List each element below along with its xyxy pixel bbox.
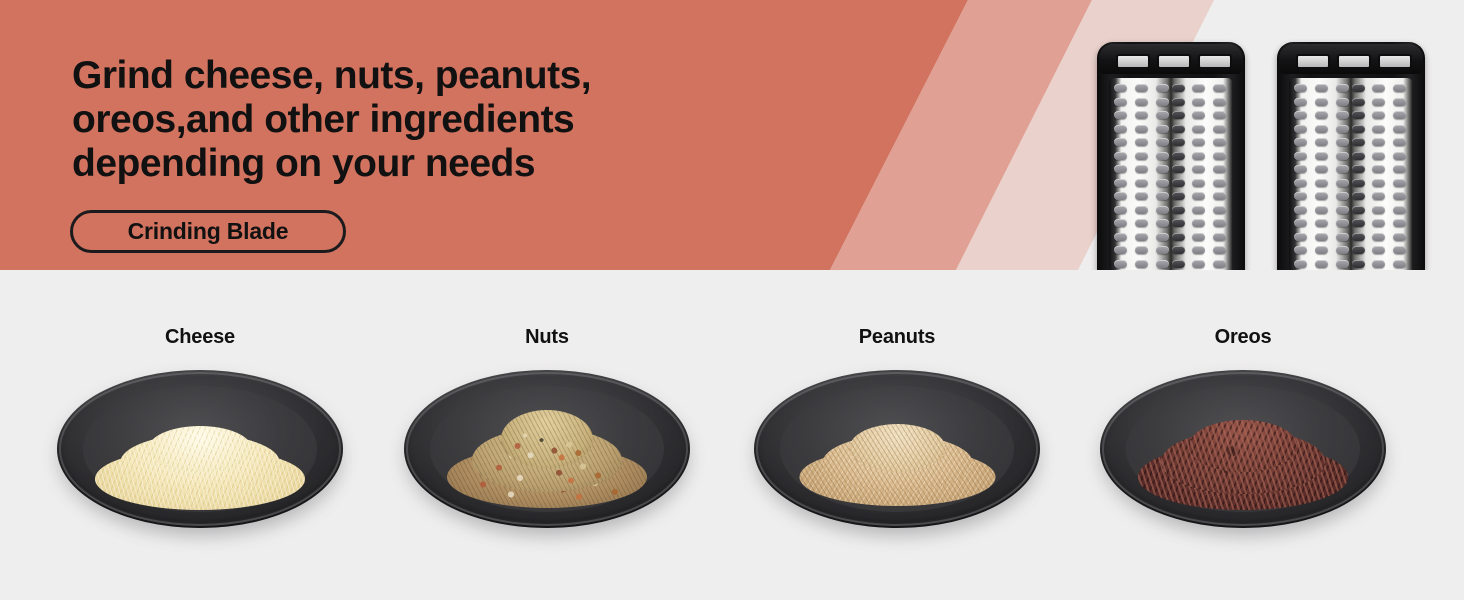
grater-hole-column	[1114, 84, 1127, 268]
grater-hole-column	[1192, 84, 1205, 268]
food-heap-ground-nuts	[437, 390, 657, 508]
drum-rim-slot-icon	[1198, 54, 1232, 69]
drum-housing	[1097, 42, 1245, 270]
ingredient-results-row: Cheese Nuts	[0, 270, 1464, 600]
grater-hole-column	[1372, 84, 1385, 268]
grater-hole-column	[1336, 84, 1349, 268]
grinding-blade-drum-1	[1097, 42, 1245, 270]
ingredient-item-oreos: Oreos	[1073, 270, 1413, 600]
drum-rim-slot-icon	[1296, 54, 1330, 69]
banner-headline: Grind cheese, nuts, peanuts, oreos,and o…	[72, 54, 772, 186]
ingredient-item-cheese: Cheese	[30, 270, 370, 600]
plate-disc	[1100, 370, 1386, 528]
grater-hole-column	[1135, 84, 1148, 268]
product-feature-banner: Grind cheese, nuts, peanuts, oreos,and o…	[0, 0, 1464, 600]
grater-hole-column	[1315, 84, 1328, 268]
food-heap-ground-peanuts	[790, 400, 1005, 506]
plate-disc	[57, 370, 343, 528]
ingredient-label-cheese: Cheese	[30, 326, 370, 349]
grater-hole-column	[1352, 84, 1365, 268]
plate-nuts	[404, 370, 690, 540]
headline-line-1: Grind cheese, nuts, peanuts,	[72, 54, 772, 98]
ingredient-label-oreos: Oreos	[1073, 326, 1413, 349]
grater-hole-column	[1393, 84, 1406, 268]
drum-steel-cylinder	[1289, 78, 1413, 270]
ingredient-item-nuts: Nuts	[377, 270, 717, 600]
plate-disc	[404, 370, 690, 528]
headline-line-3: depending on your needs	[72, 142, 772, 186]
ingredient-item-peanuts: Peanuts	[727, 270, 1067, 600]
food-heap-grated-cheese	[85, 398, 315, 510]
plate-disc	[754, 370, 1040, 528]
headline-line-2: oreos,and other ingredients	[72, 98, 772, 142]
ingredient-label-nuts: Nuts	[377, 326, 717, 349]
drum-top-rim	[1279, 44, 1423, 74]
grater-hole-column	[1172, 84, 1185, 268]
hero-banner: Grind cheese, nuts, peanuts, oreos,and o…	[0, 0, 1464, 270]
grater-hole-column	[1156, 84, 1169, 268]
grater-hole-column	[1213, 84, 1226, 268]
food-heap-crushed-oreos	[1128, 392, 1358, 510]
ingredient-label-peanuts: Peanuts	[727, 326, 1067, 349]
grinding-blade-badge-label: Crinding Blade	[128, 218, 289, 245]
grinding-blade-badge: Crinding Blade	[70, 210, 346, 253]
drum-rim-slot-icon	[1157, 54, 1191, 69]
drum-steel-cylinder	[1109, 78, 1233, 270]
drum-rim-slot-icon	[1116, 54, 1150, 69]
drum-housing	[1277, 42, 1425, 270]
grater-hole-column	[1294, 84, 1307, 268]
plate-cheese	[57, 370, 343, 540]
drum-top-rim	[1099, 44, 1243, 74]
drum-rim-slot-icon	[1378, 54, 1412, 69]
drum-rim-slot-icon	[1337, 54, 1371, 69]
plate-oreos	[1100, 370, 1386, 540]
plate-peanuts	[754, 370, 1040, 540]
grinding-blade-drum-2	[1277, 42, 1425, 270]
